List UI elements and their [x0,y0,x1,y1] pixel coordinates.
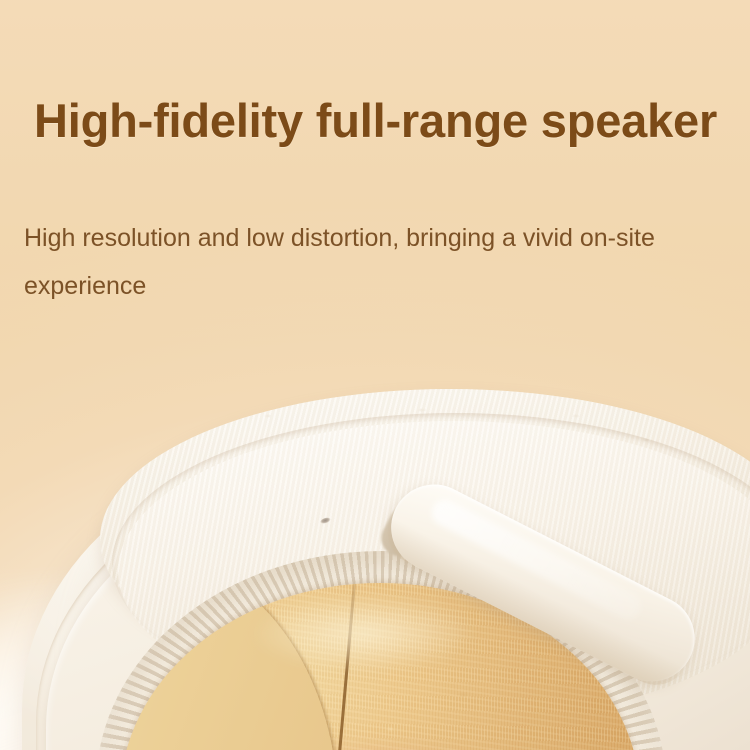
driver-top-highlight [214,592,516,695]
subtitle-text: High resolution and low distortion, brin… [24,214,714,310]
product-photo [0,355,750,750]
page-title: High-fidelity full-range speaker [34,96,734,147]
product-feature-banner: High-fidelity full-range speaker High re… [0,0,750,750]
